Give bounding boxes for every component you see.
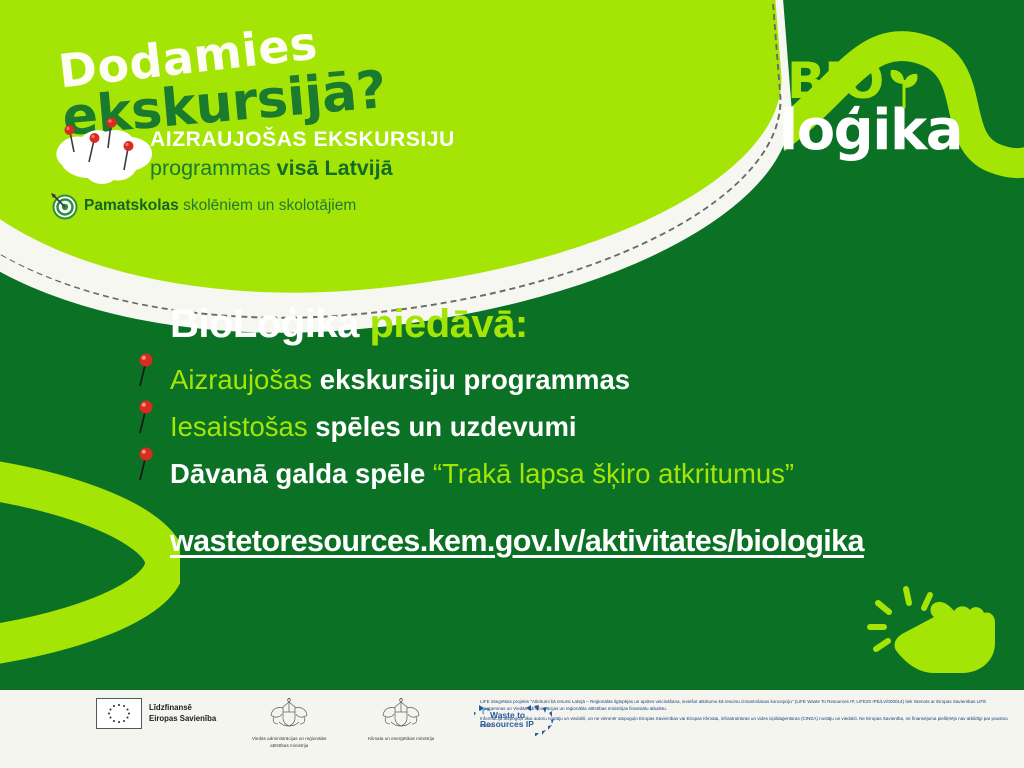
list-item-text: Aizraujošas ekskursiju programmas [170,364,630,395]
ministry-logo-1: Viedās administrācijas un reģionālās att… [250,698,328,749]
subtitle-line-2: programmas visā Latvijā [150,156,393,181]
map-pin-icon [135,400,157,434]
map-pin-icon [135,353,157,387]
list-item: Aizraujošas ekskursiju programmas [170,359,980,406]
page-title: BioLoģika piedāvā: [170,302,528,347]
eu-funding-line-2: Eiropas Savienība [149,714,216,725]
list-item-part1: Aizraujošas [170,364,320,395]
fineprint-block: LIFE integrētais projekts "Atkritumi kā … [480,699,1010,733]
subtitle-line-2-bold: visā Latvijā [277,156,393,180]
audience-bold: Pamatskolas [84,197,179,214]
eu-funding-line-1: Līdzfinansē [149,703,216,714]
page-title-accent: piedāvā: [369,302,527,346]
ministry-name-1: Viedās administrācijas un reģionālās att… [250,736,328,749]
logo-logika-text: loģika [779,104,962,157]
list-item-part2: “Trakā lapsa šķiro atkritumus” [433,458,794,489]
leaf-sprout-icon [887,64,921,108]
list-item-text: Iesaistošas spēles un uzdevumi [170,411,577,442]
list-item: Iesaistošas spēles un uzdevumi [170,406,980,453]
list-item-text: Dāvanā galda spēle “Trakā lapsa šķiro at… [170,458,794,489]
ministry-name-2: Klimata un enerģētikas ministrija [362,736,440,743]
subtitle-line-1: AIZRAUJOŠAS EKSKURSIJU [150,128,455,152]
biologika-logo: BIO loģika [779,58,962,157]
map-pin-icon [135,447,157,481]
pointing-hand-click-icon [862,581,1002,676]
header-content: Dodamies ekskursijā? [0,0,760,260]
list-item-part2: ekskursiju programmas [320,364,630,395]
ministry-logo-2: Klimata un enerģētikas ministrija [362,698,440,743]
latvia-coat-of-arms-icon [250,698,328,728]
footer-bar: Līdzfinansē Eiropas Savienība [0,690,1024,768]
eu-funding-text: Līdzfinansē Eiropas Savienība [149,703,216,724]
fineprint-paragraph-2: Informācija atspoguļo tikai autoru nostā… [480,716,1010,730]
list-item-part1: Iesaistošas [170,411,315,442]
website-url-link[interactable]: wastetoresources.kem.gov.lv/aktivitates/… [170,524,864,559]
fineprint-paragraph-1: LIFE integrētais projekts "Atkritumi kā … [480,699,1010,713]
latvia-map-icon [52,118,157,193]
offer-list: Aizraujošas ekskursiju programmas Iesais… [170,359,980,500]
page-title-white: BioLoģika [170,302,369,346]
audience-line: Pamatskolas skolēniem un skolotājiem [84,197,356,215]
audience-normal: skolēniem un skolotājiem [179,197,356,214]
poster-canvas: Dodamies ekskursijā? [0,0,1024,768]
eu-funding-logo: Līdzfinansē Eiropas Savienība [96,698,216,729]
list-item-part2: spēles un uzdevumi [315,411,576,442]
latvia-coat-of-arms-icon [362,698,440,728]
subtitle-line-2-normal: programmas [150,156,277,180]
eu-flag-icon [96,698,142,729]
list-item: Dāvanā galda spēle “Trakā lapsa šķiro at… [170,453,980,500]
main-content: BioLoģika piedāvā: Aizraujošas ekskursij… [0,286,1024,616]
list-item-part1: Dāvanā galda spēle [170,458,433,489]
target-dartboard-icon [50,192,80,220]
